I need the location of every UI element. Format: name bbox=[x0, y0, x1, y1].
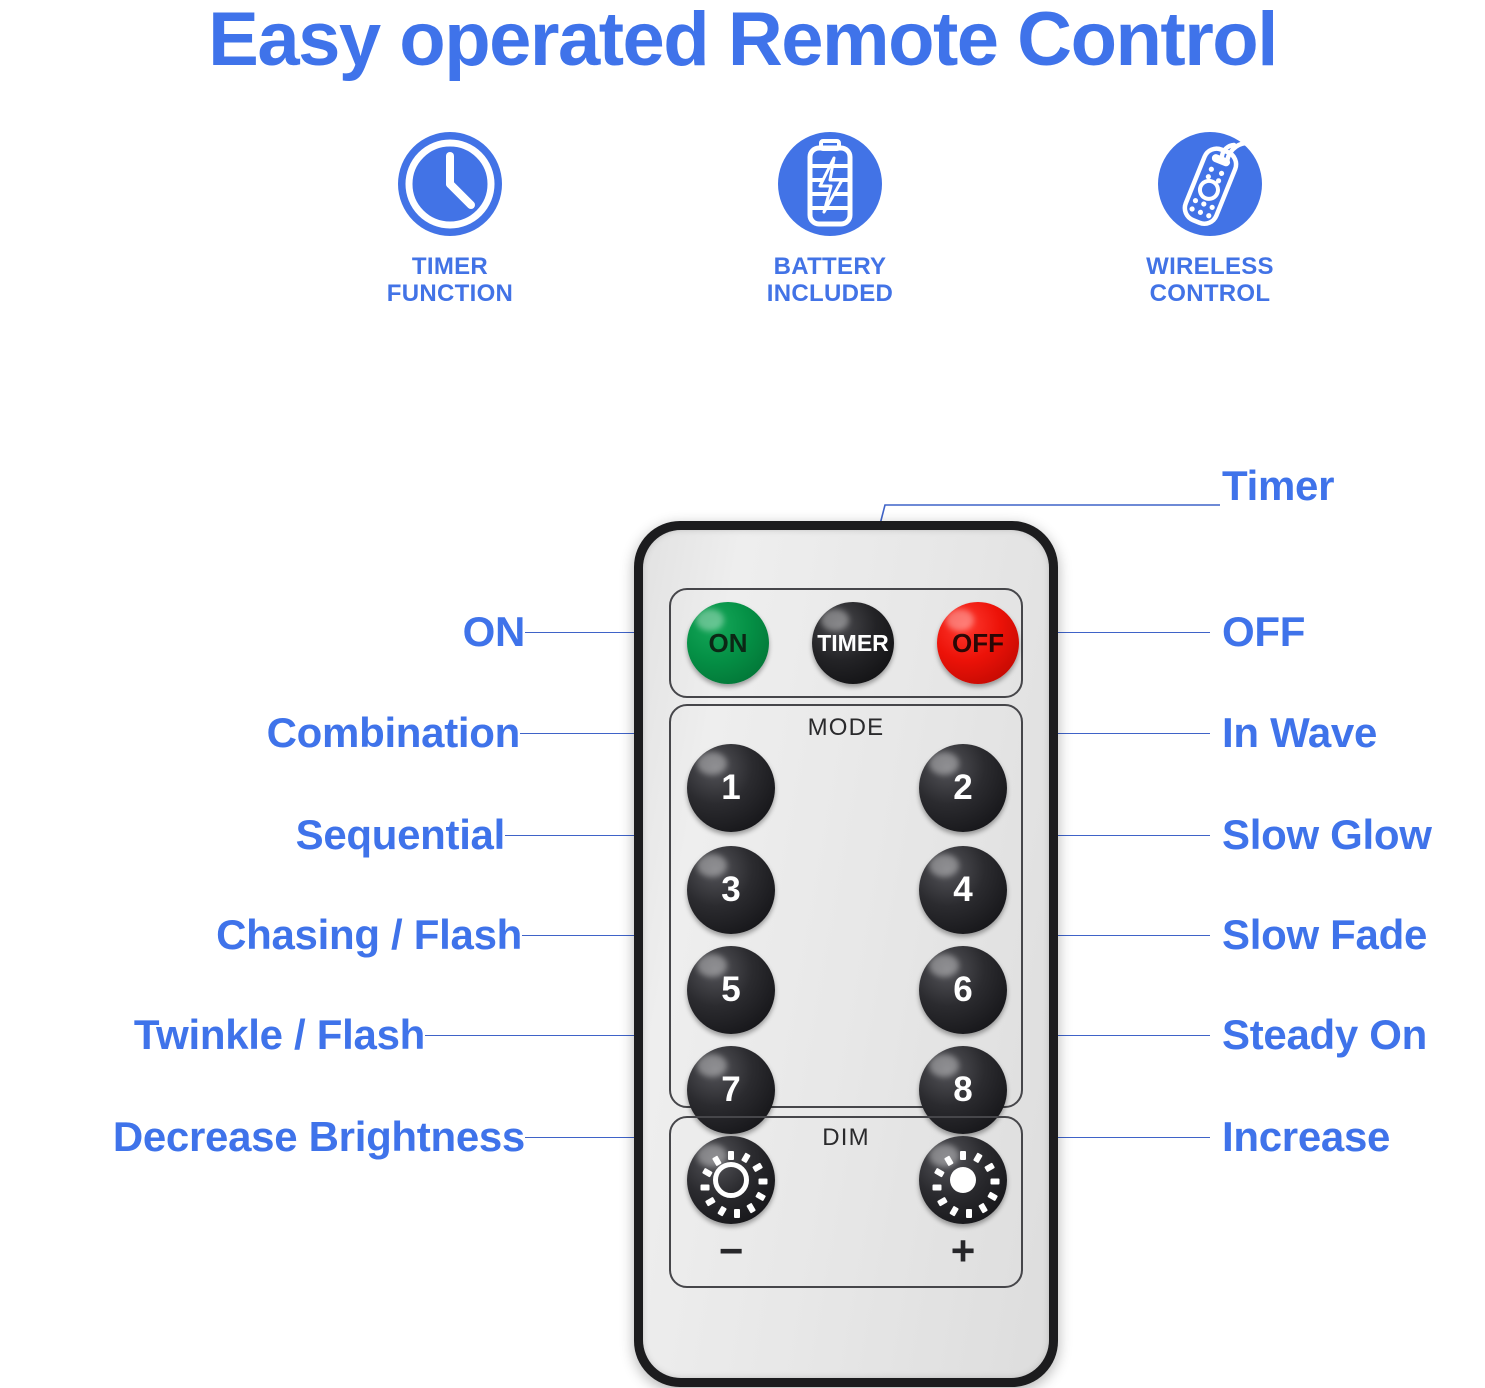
feature-battery-included: BATTERY INCLUDED bbox=[680, 128, 980, 308]
remote-signal-icon bbox=[1154, 128, 1266, 240]
brightness-high-icon bbox=[934, 1151, 992, 1209]
mode-button-label: 3 bbox=[721, 870, 740, 910]
dim-button-panel: DIM bbox=[669, 1116, 1023, 1288]
callout-mode5: Chasing / Flash bbox=[216, 911, 522, 959]
off-button[interactable]: OFF bbox=[937, 602, 1019, 684]
feature-label-line1: TIMER bbox=[412, 253, 488, 280]
mode-button-label: 6 bbox=[953, 970, 972, 1010]
mode-button-2[interactable]: 2 bbox=[919, 744, 1007, 832]
mode-button-5[interactable]: 5 bbox=[687, 946, 775, 1034]
on-button[interactable]: ON bbox=[687, 602, 769, 684]
page-title: Easy operated Remote Control bbox=[0, 0, 1485, 83]
brightness-low-icon bbox=[702, 1151, 760, 1209]
mode-button-label: 7 bbox=[721, 1070, 740, 1110]
dim-minus-sign: − bbox=[687, 1230, 775, 1272]
callout-mode2: In Wave bbox=[1222, 709, 1377, 757]
callout-off: OFF bbox=[1222, 608, 1305, 656]
callout-mode8: Steady On bbox=[1222, 1011, 1427, 1059]
feature-label-line1: WIRELESS bbox=[1146, 253, 1274, 280]
feature-label-line2: CONTROL bbox=[1150, 280, 1271, 307]
feature-label: TIMER FUNCTION bbox=[387, 254, 513, 308]
dim-plus-sign: + bbox=[919, 1230, 1007, 1272]
mode-button-panel: MODE 1 2 3 4 5 6 7 8 bbox=[669, 704, 1023, 1108]
mode-panel-title: MODE bbox=[671, 714, 1021, 742]
mode-button-6[interactable]: 6 bbox=[919, 946, 1007, 1034]
mode-button-label: 1 bbox=[721, 768, 740, 808]
mode-button-label: 4 bbox=[953, 870, 972, 910]
feature-label: BATTERY INCLUDED bbox=[767, 254, 893, 308]
timer-button[interactable]: TIMER bbox=[812, 602, 894, 684]
battery-icon bbox=[774, 128, 886, 240]
timer-button-label: TIMER bbox=[817, 630, 889, 657]
feature-label-line2: FUNCTION bbox=[387, 280, 513, 307]
feature-badge-row: TIMER FUNCTION BATTERY INCLUDED bbox=[300, 128, 1360, 308]
callout-timer: Timer bbox=[1222, 462, 1334, 510]
callout-mode1: Combination bbox=[267, 709, 520, 757]
feature-timer-function: TIMER FUNCTION bbox=[300, 128, 600, 308]
callout-mode3: Sequential bbox=[296, 811, 505, 859]
callout-mode6: Slow Fade bbox=[1222, 911, 1427, 959]
on-button-label: ON bbox=[709, 628, 748, 659]
callout-dim-minus: Decrease Brightness bbox=[113, 1113, 525, 1161]
dim-increase-button[interactable] bbox=[919, 1136, 1007, 1224]
callout-dim-plus: Increase bbox=[1222, 1113, 1390, 1161]
remote-control-device: ON TIMER OFF MODE 1 2 3 4 5 6 7 8 bbox=[634, 521, 1058, 1387]
dim-decrease-button[interactable] bbox=[687, 1136, 775, 1224]
mode-button-label: 2 bbox=[953, 768, 972, 808]
power-button-panel: ON TIMER OFF bbox=[669, 588, 1023, 698]
infographic-page: Easy operated Remote Control TIMER FUNCT… bbox=[0, 0, 1485, 1388]
callout-on: ON bbox=[463, 608, 525, 656]
feature-label: WIRELESS CONTROL bbox=[1146, 254, 1274, 308]
feature-label-line1: BATTERY bbox=[774, 253, 887, 280]
callout-mode7: Twinkle / Flash bbox=[134, 1011, 425, 1059]
mode-button-4[interactable]: 4 bbox=[919, 846, 1007, 934]
clock-icon bbox=[394, 128, 506, 240]
off-button-label: OFF bbox=[952, 628, 1004, 659]
feature-wireless-control: WIRELESS CONTROL bbox=[1060, 128, 1360, 308]
feature-label-line2: INCLUDED bbox=[767, 280, 893, 307]
remote-face: ON TIMER OFF MODE 1 2 3 4 5 6 7 8 bbox=[643, 530, 1049, 1378]
mode-button-label: 8 bbox=[953, 1070, 972, 1110]
mode-button-label: 5 bbox=[721, 970, 740, 1010]
mode-button-3[interactable]: 3 bbox=[687, 846, 775, 934]
callout-mode4: Slow Glow bbox=[1222, 811, 1432, 859]
mode-button-1[interactable]: 1 bbox=[687, 744, 775, 832]
